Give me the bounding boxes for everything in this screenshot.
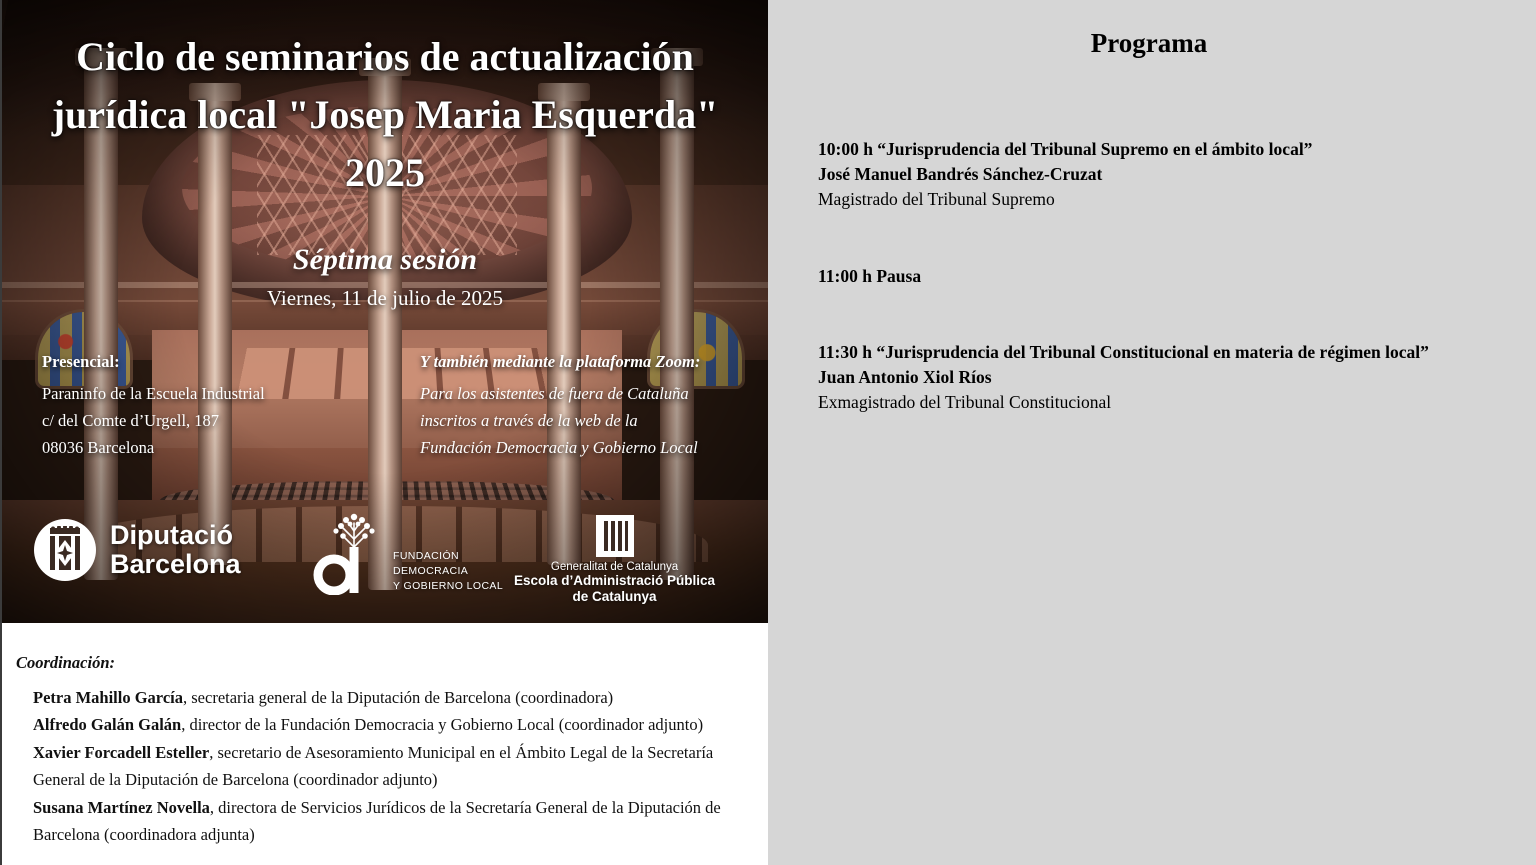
- logo-generalitat-catalunya: Generalitat de Catalunya Escola d’Admini…: [514, 515, 715, 605]
- program-item-heading: 10:00 h “Jurisprudencia del Tribunal Sup…: [818, 137, 1480, 162]
- onsite-heading: Presencial:: [42, 352, 372, 372]
- program-item-role: Exmagistrado del Tribunal Constitucional: [818, 390, 1480, 415]
- fundacion-line-2: DEMOCRACIA: [393, 564, 503, 579]
- fundacion-line-3: Y GOBIERNO LOCAL: [393, 579, 503, 594]
- coordinator-role: , director de la Fundación Democracia y …: [181, 715, 703, 734]
- left-panel: Ciclo de seminarios de actualización jur…: [0, 0, 768, 865]
- program-title: Programa: [818, 28, 1480, 59]
- diputacio-line-1: Diputació: [110, 521, 241, 550]
- program-item: 10:00 h “Jurisprudencia del Tribunal Sup…: [818, 137, 1480, 212]
- generalitat-line-3: de Catalunya: [573, 589, 657, 605]
- program-panel: Programa 10:00 h “Jurisprudencia del Tri…: [768, 0, 1536, 865]
- onsite-line-3: 08036 Barcelona: [42, 435, 372, 462]
- fundacion-line-1: FUNDACIÓN: [393, 549, 503, 564]
- onsite-line-1: Paraninfo de la Escuela Industrial: [42, 381, 372, 408]
- coordinator-role: , secretaria general de la Diputación de…: [183, 688, 613, 707]
- program-item: 11:30 h “Jurisprudencia del Tribunal Con…: [818, 340, 1480, 415]
- diputacio-shield-icon: [34, 519, 96, 581]
- poster-title: Ciclo de seminarios de actualización jur…: [2, 28, 768, 202]
- diputacio-line-2: Barcelona: [110, 550, 241, 579]
- coordination-section: Coordinación: Petra Mahillo García, secr…: [2, 623, 768, 848]
- coordinator-name: Petra Mahillo García: [33, 688, 183, 707]
- logo-fundacion-democracia: FUNDACIÓN DEMOCRACIA Y GOBIERNO LOCAL: [312, 513, 503, 600]
- logo-diputacio-barcelona: Diputació Barcelona: [34, 519, 241, 581]
- logo-strip: Diputació Barcelona: [2, 513, 768, 595]
- program-item-heading: 11:30 h “Jurisprudencia del Tribunal Con…: [818, 340, 1480, 365]
- program-item-role: Magistrado del Tribunal Supremo: [818, 187, 1480, 212]
- poster-document: Ciclo de seminarios de actualización jur…: [0, 0, 1536, 865]
- program-item: 11:00 h Pausa: [818, 264, 1480, 289]
- coordinator-name: Xavier Forcadell Esteller: [33, 743, 209, 762]
- online-line-2: inscritos a través de la web de la: [420, 408, 740, 435]
- coordination-member: Alfredo Galán Galán, director de la Fund…: [33, 711, 756, 738]
- poster-text-overlay: Ciclo de seminarios de actualización jur…: [2, 0, 768, 623]
- coordination-title: Coordinación:: [16, 653, 756, 673]
- coordinator-name: Susana Martínez Novella: [33, 798, 210, 817]
- poster-image: Ciclo de seminarios de actualización jur…: [2, 0, 768, 623]
- onsite-venue-block: Presencial: Paraninfo de la Escuela Indu…: [42, 352, 372, 462]
- coordination-member: Petra Mahillo García, secretaria general…: [33, 684, 756, 711]
- online-venue-block: Y también mediante la plataforma Zoom: P…: [420, 352, 740, 462]
- fundacion-wordmark: FUNDACIÓN DEMOCRACIA Y GOBIERNO LOCAL: [393, 549, 503, 594]
- online-heading: Y también mediante la plataforma Zoom:: [420, 352, 740, 372]
- online-line-3: Fundación Democracia y Gobierno Local: [420, 435, 740, 462]
- program-list: 10:00 h “Jurisprudencia del Tribunal Sup…: [818, 137, 1480, 415]
- online-line-1: Para los asistentes de fuera de Cataluña: [420, 381, 740, 408]
- diputacio-wordmark: Diputació Barcelona: [110, 521, 241, 579]
- coordination-member: Xavier Forcadell Esteller, secretario de…: [33, 739, 756, 794]
- coordination-member: Susana Martínez Novella, directora de Se…: [33, 794, 756, 849]
- generalitat-line-1: Generalitat de Catalunya: [551, 561, 678, 573]
- program-item-heading: 11:00 h Pausa: [818, 264, 1480, 289]
- generalitat-senyera-icon: [596, 515, 634, 557]
- coordinator-name: Alfredo Galán Galán: [33, 715, 181, 734]
- program-item-speaker: José Manuel Bandrés Sánchez-Cruzat: [818, 162, 1480, 187]
- program-item-speaker: Juan Antonio Xiol Ríos: [818, 365, 1480, 390]
- onsite-line-2: c/ del Comte d’Urgell, 187: [42, 408, 372, 435]
- generalitat-line-2: Escola d’Administració Pública: [514, 573, 715, 589]
- fundacion-tree-d-icon: [312, 513, 384, 600]
- session-date: Viernes, 11 de julio de 2025: [2, 286, 768, 311]
- session-label: Séptima sesión: [2, 243, 768, 277]
- coordination-list: Petra Mahillo García, secretaria general…: [16, 684, 756, 848]
